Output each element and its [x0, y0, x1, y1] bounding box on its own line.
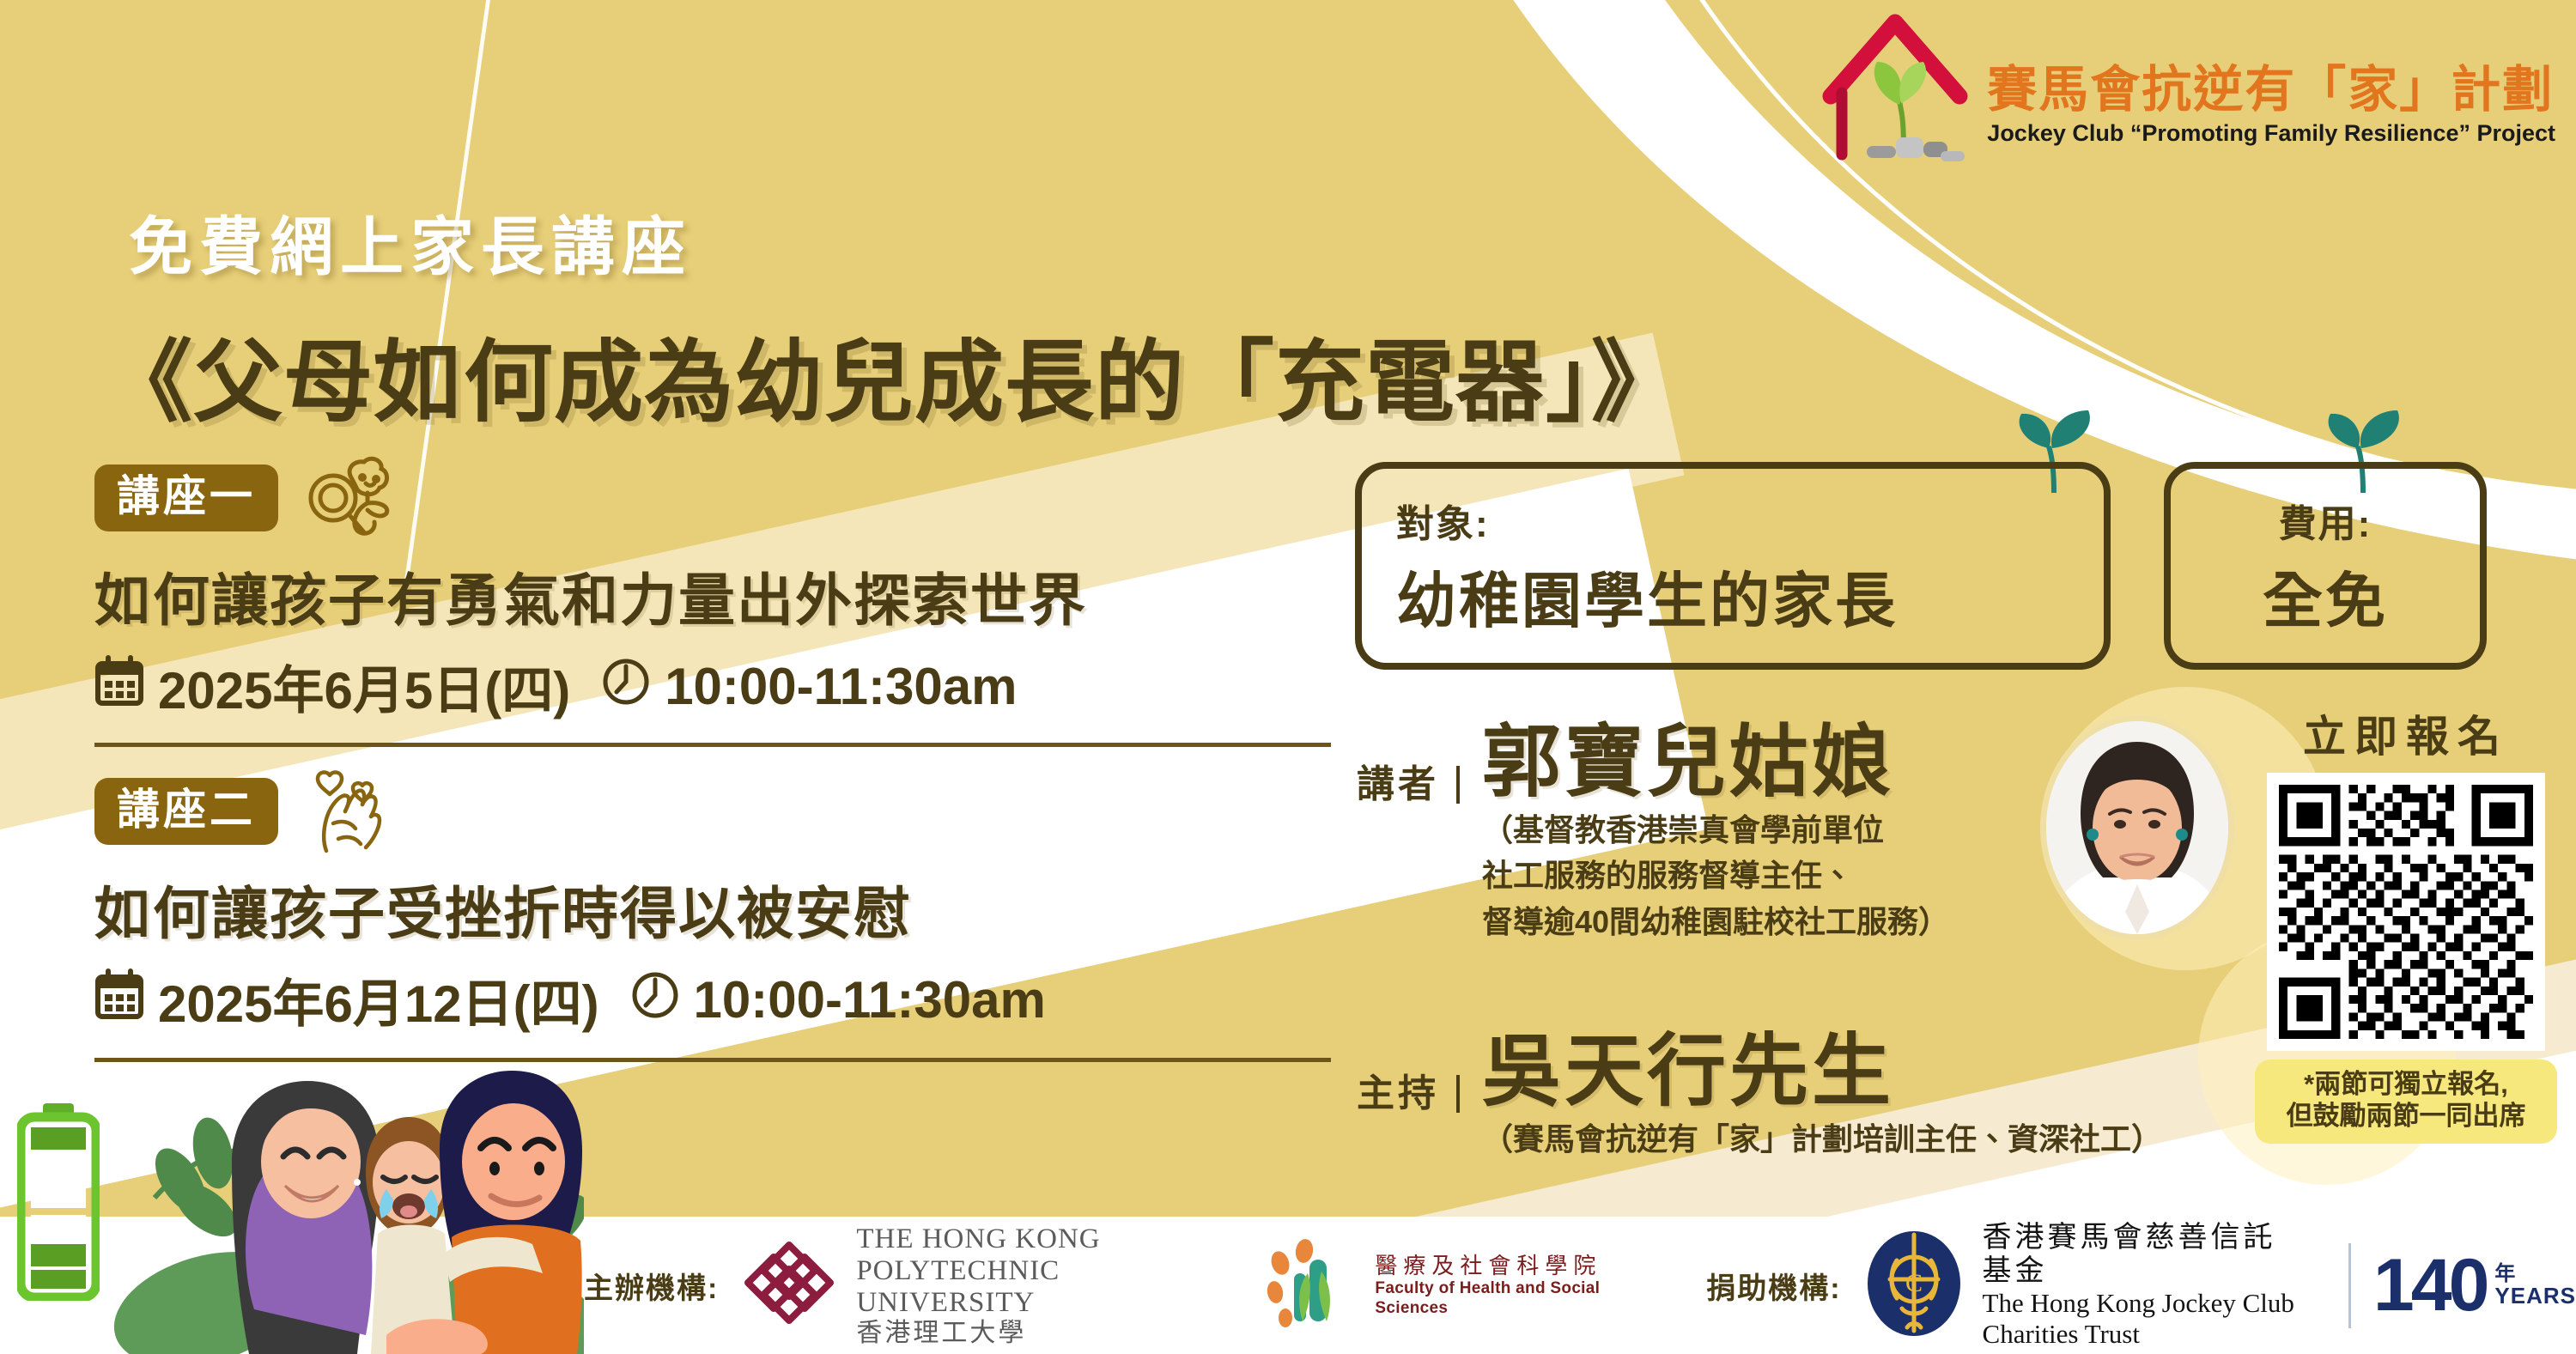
faculty-wordmark: 醫療及社會科學院 Faculty of Health and Social Sc… — [1375, 1253, 1646, 1319]
faculty-name-en: Faculty of Health and Social Sciences — [1375, 1279, 1646, 1319]
speaker-credit-line-3: 督導逾40間幼稚園駐校社工服務） — [1482, 902, 1949, 943]
poster-kicker: 免費網上家長講座 — [129, 196, 692, 288]
polyu-wordmark: THE HONG KONG POLYTECHNIC UNIVERSITY 香港理… — [856, 1223, 1208, 1347]
session-1-topic: 如何讓孩子有勇氣和力量出外探索世界 — [94, 555, 1087, 637]
poster-title: 《父母如何成為幼兒成長的「充電器」》 — [103, 309, 1681, 439]
faculty-logo: 醫療及社會科學院 Faculty of Health and Social Sc… — [1260, 1239, 1646, 1333]
polyu-emblem-icon — [741, 1235, 837, 1335]
polyu-line-1: THE HONG KONG — [856, 1223, 1208, 1255]
session-1-time-item: 10:00-11:30am — [601, 655, 1017, 719]
fee-info-box: 費用: 全免 — [2164, 462, 2487, 670]
session-1-header: 講座一 — [94, 455, 1087, 541]
registration-note-line-1: *兩節可獨立報名, — [2267, 1068, 2545, 1100]
session-1-time: 10:00-11:30am — [665, 657, 1017, 716]
fee-label: 費用: — [2196, 493, 2454, 548]
footer-bar: 主辦機構: THE HONG KONG POLYTECHNIC UNIVERSI… — [0, 1217, 2576, 1354]
speaker-credit-line-2: 社工服務的服務督導主任、 — [1482, 855, 1949, 896]
session-2-date: 2025年6月12日(四) — [158, 962, 599, 1037]
calendar-icon — [94, 655, 144, 719]
host-block: 主持 吳天行先生 （賽馬會抗逆有「家」計劃培訓主任、資深社工） — [1357, 1030, 2162, 1159]
speaker-role-label: 講者 — [1357, 766, 1460, 804]
clock-icon — [630, 968, 680, 1032]
host-credit-line-1: （賽馬會抗逆有「家」計劃培訓主任、資深社工） — [1482, 1119, 2162, 1160]
speaker-avatar — [2046, 721, 2228, 934]
anniversary-cn: 年 — [2494, 1264, 2576, 1284]
speaker-block: 講者 郭寶兒姑娘 （基督教香港崇真會學前單位 社工服務的服務督導主任、 督導逾4… — [1357, 721, 1949, 942]
fee-value: 全免 — [2196, 553, 2454, 640]
session-2-date-item: 2025年6月12日(四) — [94, 962, 599, 1037]
svg-text:C: C — [1905, 1269, 1923, 1297]
session-1-date: 2025年6月5日(四) — [158, 649, 570, 724]
hkjc-logo: C 香港賽馬會慈善信託基金 The Hong Kong Jockey Club … — [1864, 1221, 2306, 1349]
host-role-label: 主持 — [1357, 1075, 1460, 1113]
funder-label: 捐助機構: — [1706, 1265, 1841, 1307]
faculty-name-cn: 醫療及社會科學院 — [1375, 1253, 1646, 1279]
anniversary-en: YEARS — [2494, 1284, 2576, 1307]
audience-info-box: 對象: 幼稚園學生的家長 — [1355, 462, 2111, 670]
hkjc-emblem-icon: C — [1864, 1230, 1964, 1342]
session-2-time-item: 10:00-11:30am — [630, 968, 1046, 1032]
hkjc-name-en-2: Charities Trust — [1983, 1319, 2306, 1350]
hkjc-wordmark: 香港賽馬會慈善信託基金 The Hong Kong Jockey Club Ch… — [1983, 1221, 2306, 1349]
organiser-label: 主辦機構: — [584, 1265, 719, 1307]
polyu-logo: THE HONG KONG POLYTECHNIC UNIVERSITY 香港理… — [741, 1223, 1208, 1347]
hkjc-name-en-1: The Hong Kong Jockey Club — [1983, 1288, 2306, 1319]
speaker-name: 郭寶兒姑娘 — [1482, 721, 1949, 805]
session-2-badge: 講座二 — [94, 778, 278, 845]
session-1-badge: 講座一 — [94, 464, 278, 531]
qr-code[interactable] — [2267, 773, 2545, 1051]
registration-note: *兩節可獨立報名, 但鼓勵兩節一同出席 — [2255, 1060, 2557, 1144]
host-details: 吳天行先生 （賽馬會抗逆有「家」計劃培訓主任、資深社工） — [1482, 1030, 2162, 1159]
faculty-emblem-icon — [1260, 1239, 1356, 1333]
registration-title: 立即報名 — [2255, 702, 2557, 764]
anniversary-badge: 140 年 YEARS — [2348, 1243, 2576, 1328]
registration-note-line-2: 但鼓勵兩節一同出席 — [2267, 1100, 2545, 1132]
session-1-date-item: 2025年6月5日(四) — [94, 649, 570, 724]
session-block-1: 講座一 如何讓 — [94, 455, 1087, 724]
session-2-time: 10:00-11:30am — [694, 970, 1046, 1029]
audience-value: 幼稚園學生的家長 — [1396, 553, 2069, 640]
house-sprout-icon — [1814, 9, 1977, 167]
brand-logo: 賽馬會抗逆有「家」計劃 Jockey Club “Promoting Famil… — [1814, 9, 2555, 167]
holding-hands-heart-icon — [301, 768, 395, 854]
registration-block[interactable]: 立即報名 — [2255, 702, 2557, 1144]
session-2-header: 講座二 — [94, 768, 1046, 854]
speaker-credit-line-1: （基督教香港崇真會學前單位 — [1482, 810, 1949, 851]
anniversary-number: 140 — [2373, 1243, 2487, 1328]
session-block-2: 講座二 如何讓孩子受挫折時得以被安慰 — [94, 768, 1046, 1037]
audience-label: 對象: — [1396, 493, 2069, 548]
brand-name-cn: 賽馬會抗逆有「家」計劃 — [1987, 65, 2555, 115]
session-divider-1 — [94, 743, 1331, 747]
child-magnifier-icon — [301, 455, 395, 541]
polyu-line-2: POLYTECHNIC UNIVERSITY — [856, 1255, 1208, 1319]
host-name: 吳天行先生 — [1482, 1030, 2162, 1114]
poster-root: 賽馬會抗逆有「家」計劃 Jockey Club “Promoting Famil… — [0, 0, 2576, 1354]
session-2-meta: 2025年6月12日(四) 10:00-11:30am — [94, 962, 1046, 1037]
brand-name-en: Jockey Club “Promoting Family Resilience… — [1987, 120, 2555, 147]
session-1-meta: 2025年6月5日(四) 10:00-11:30am — [94, 649, 1087, 724]
hkjc-name-cn: 香港賽馬會慈善信託基金 — [1983, 1221, 2306, 1288]
speaker-details: 郭寶兒姑娘 （基督教香港崇真會學前單位 社工服務的服務督導主任、 督導逾40間幼… — [1482, 721, 1949, 942]
session-2-topic: 如何讓孩子受挫折時得以被安慰 — [94, 868, 1046, 950]
clock-icon — [601, 655, 651, 719]
polyu-line-3: 香港理工大學 — [856, 1319, 1208, 1348]
calendar-icon — [94, 968, 144, 1032]
